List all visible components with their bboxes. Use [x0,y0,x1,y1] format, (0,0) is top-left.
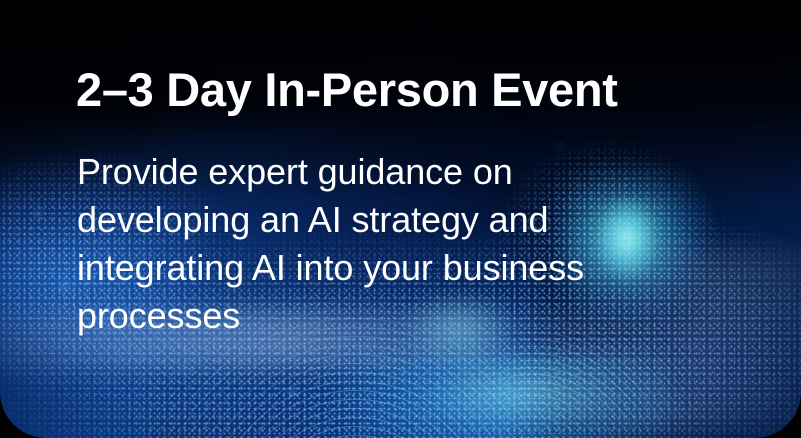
banner-subcopy: Provide expert guidance on developing an… [77,148,667,340]
banner-headline: 2–3 Day In-Person Event [76,66,618,113]
subcopy-line-3: integrating AI into your business [77,244,667,292]
subcopy-line-4: processes [77,292,667,340]
hero-banner: 2–3 Day In-Person Event Provide expert g… [0,0,801,438]
subcopy-line-1: Provide expert guidance on [77,148,667,196]
subcopy-line-2: developing an AI strategy and [77,196,667,244]
banner-content: 2–3 Day In-Person Event Provide expert g… [0,0,801,438]
